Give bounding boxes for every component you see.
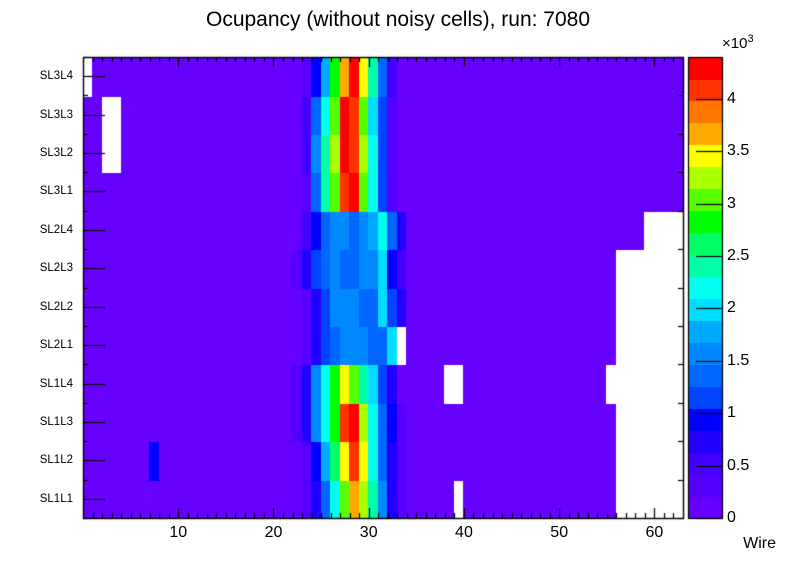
colorbar-exponent: ×103 — [722, 33, 754, 52]
x-tick-label: 20 — [265, 524, 283, 542]
colorbar-exponent-power: 3 — [747, 33, 753, 45]
y-tick-label: SL2L1 — [0, 339, 73, 351]
colorbar-tick-label: 0.5 — [727, 457, 749, 475]
x-tick-label: 10 — [169, 524, 187, 542]
colorbar-tick-label: 2 — [727, 299, 736, 317]
y-tick-label: SL2L4 — [0, 224, 73, 236]
x-tick-label: 50 — [550, 524, 568, 542]
y-tick-label: SL3L4 — [0, 70, 73, 82]
colorbar-exponent-base: ×10 — [722, 35, 747, 52]
page-title: Ocupancy (without noisy cells), run: 708… — [0, 8, 796, 32]
y-tick-label: SL2L3 — [0, 262, 73, 274]
x-tick-label: 30 — [360, 524, 378, 542]
y-tick-label: SL1L3 — [0, 416, 73, 428]
colorbar-tick-label: 0 — [727, 509, 736, 527]
heatmap-canvas[interactable] — [0, 0, 796, 572]
x-tick-label: 40 — [455, 524, 473, 542]
colorbar-tick-label: 4 — [727, 90, 736, 108]
y-tick-label: SL1L4 — [0, 378, 73, 390]
colorbar-tick-label: 2.5 — [727, 247, 749, 265]
x-tick-label: 60 — [646, 524, 664, 542]
y-tick-label: SL3L3 — [0, 109, 73, 121]
colorbar-tick-label: 3 — [727, 195, 736, 213]
x-axis-title: Wire — [743, 535, 776, 553]
root-canvas: Ocupancy (without noisy cells), run: 708… — [0, 0, 796, 572]
y-tick-label: SL2L2 — [0, 301, 73, 313]
y-tick-label: SL3L2 — [0, 147, 73, 159]
y-tick-label: SL3L1 — [0, 185, 73, 197]
y-tick-label: SL1L1 — [0, 493, 73, 505]
colorbar-tick-label: 3.5 — [727, 142, 749, 160]
y-tick-label: SL1L2 — [0, 454, 73, 466]
colorbar-tick-label: 1.5 — [727, 352, 749, 370]
colorbar-tick-label: 1 — [727, 404, 736, 422]
